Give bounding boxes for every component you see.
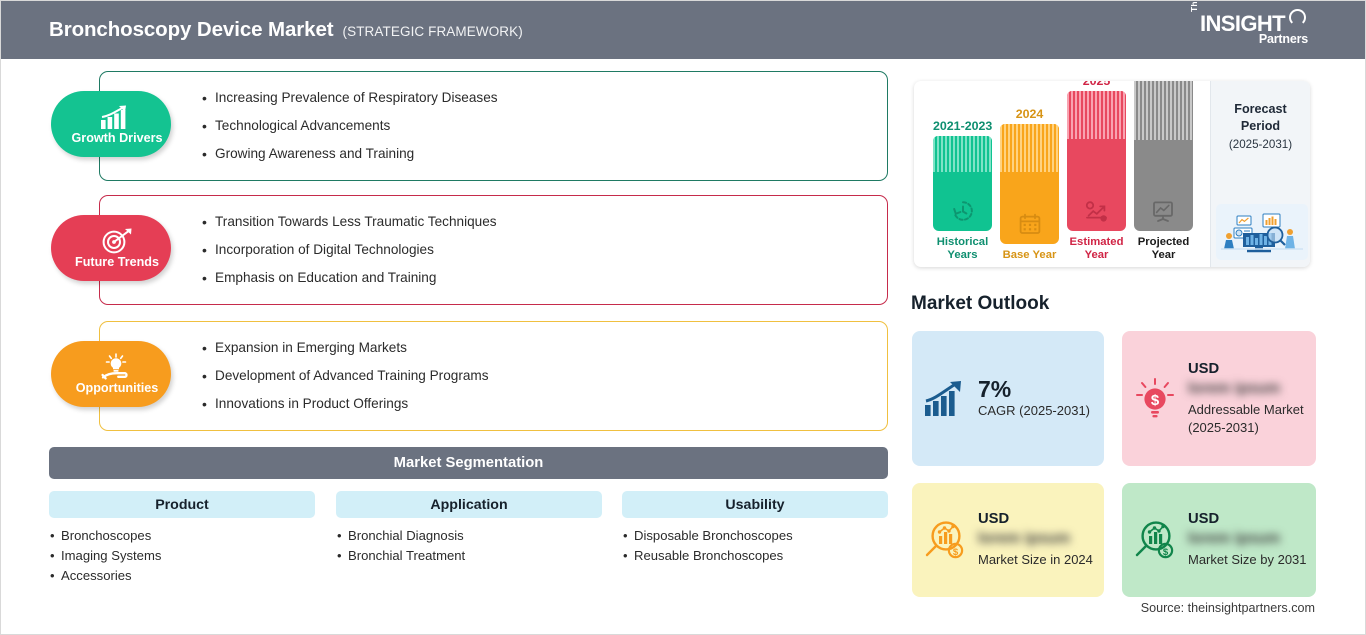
outlook-card-market-size-2031[interactable]: $ USD lorem ipsum Market Size by 2031 <box>1122 483 1316 597</box>
lightbulb-hand-icon <box>88 354 134 380</box>
cagr-text-block: 7% CAGR (2025-2031) <box>978 377 1104 419</box>
list-item: Growing Awareness and Training <box>202 140 498 168</box>
market-outlook-title: Market Outlook <box>911 293 1049 315</box>
projection-screen-icon <box>1134 199 1193 223</box>
blurred-value: lorem ipsum <box>978 530 1096 548</box>
badge-label: Growth Drivers <box>60 131 163 145</box>
svg-text:$: $ <box>1163 547 1169 558</box>
page-subtitle: (STRATEGIC FRAMEWORK) <box>343 24 523 39</box>
usability-list: Disposable Bronchoscopes Reusable Bronch… <box>622 526 888 566</box>
badge-label: Future Trends <box>63 255 159 269</box>
blurred-value: lorem ipsum <box>1188 530 1308 548</box>
currency-label: USD <box>1188 361 1308 377</box>
target-dart-icon <box>89 228 133 254</box>
list-item: Reusable Bronchoscopes <box>622 546 888 566</box>
market-size-2031-text-block: USD lorem ipsum Market Size by 2031 <box>1188 511 1316 568</box>
svg-text:$: $ <box>1151 392 1160 409</box>
list-item: Development of Advanced Training Program… <box>202 362 489 390</box>
logo-magnifier-ring-icon <box>1289 9 1306 26</box>
bar-chart-arrow-icon <box>912 380 978 418</box>
insight-partners-logo[interactable]: The INSIGHT Partners <box>1189 10 1309 52</box>
list-item: Innovations in Product Offerings <box>202 390 489 418</box>
segmentation-column-usability: Usability Disposable Bronchoscopes Reusa… <box>622 491 888 566</box>
growth-drivers-list: Increasing Prevalence of Respiratory Dis… <box>202 84 498 169</box>
list-item: Incorporation of Digital Technologies <box>202 236 497 264</box>
clock-history-icon <box>933 199 992 223</box>
timeline-bar-base-year[interactable]: 2024 B <box>1000 107 1059 263</box>
tab-product[interactable]: Product <box>49 491 315 518</box>
timeline-bars: 2021-2023 Historical Years 2024 <box>914 81 1210 267</box>
calendar-icon <box>1000 212 1059 236</box>
data-analytics-illustration <box>1216 204 1308 260</box>
bar-chart-growth-icon <box>88 104 134 130</box>
list-item: Imaging Systems <box>49 546 315 566</box>
magnifier-chart-dollar-icon: $ <box>1122 519 1188 561</box>
product-list: Bronchoscopes Imaging Systems Accessorie… <box>49 526 315 587</box>
logo-partners-text: Partners <box>1259 32 1308 46</box>
market-size-2031-caption: Market Size by 2031 <box>1188 551 1308 568</box>
list-item: Bronchoscopes <box>49 526 315 546</box>
segmentation-column-application: Application Bronchial Diagnosis Bronchia… <box>336 491 602 566</box>
forecast-period-panel: Forecast Period (2025-2031) <box>1210 81 1310 267</box>
segmentation-column-product: Product Bronchoscopes Imaging Systems Ac… <box>49 491 315 587</box>
header-title-group: Bronchoscopy Device Market (STRATEGIC FR… <box>49 18 523 42</box>
cagr-caption: CAGR (2025-2031) <box>978 402 1096 419</box>
bar-category-label: Historical Years <box>933 236 992 263</box>
application-list: Bronchial Diagnosis Bronchial Treatment <box>336 526 602 566</box>
timeline-bar-historical-years[interactable]: 2021-2023 Historical Years <box>933 119 992 263</box>
list-item: Bronchial Diagnosis <box>336 526 602 546</box>
badge-opportunities[interactable]: Opportunities <box>51 341 171 407</box>
forecast-title-line1: Forecast <box>1211 101 1310 118</box>
outlook-card-cagr[interactable]: 7% CAGR (2025-2031) <box>912 331 1104 466</box>
list-item: Bronchial Treatment <box>336 546 602 566</box>
bar-stripe-overlay <box>1134 81 1193 140</box>
currency-label: USD <box>978 511 1096 527</box>
market-size-2024-text-block: USD lorem ipsum Market Size in 2024 <box>978 511 1104 568</box>
market-size-2024-caption: Market Size in 2024 <box>978 551 1096 568</box>
list-item: Accessories <box>49 566 315 586</box>
list-item: Increasing Prevalence of Respiratory Dis… <box>202 84 498 112</box>
badge-growth-drivers[interactable]: Growth Drivers <box>51 91 171 157</box>
list-item: Expansion in Emerging Markets <box>202 334 489 362</box>
bar-year-label: 2025 <box>1067 81 1126 88</box>
addressable-market-caption: Addressable Market (2025-2031) <box>1188 401 1308 436</box>
forecast-range: (2025-2031) <box>1211 138 1310 151</box>
source-attribution: Source: theinsightpartners.com <box>1141 601 1315 615</box>
bar-stripe-overlay <box>933 136 992 172</box>
lightbulb-dollar-icon: $ <box>1122 376 1188 422</box>
bar-stripe-overlay <box>1067 91 1126 139</box>
currency-label: USD <box>1188 511 1308 527</box>
tab-application[interactable]: Application <box>336 491 602 518</box>
bar-category-label: Base Year <box>1000 249 1059 263</box>
list-item: Transition Towards Less Traumatic Techni… <box>202 208 497 236</box>
svg-text:$: $ <box>953 547 959 558</box>
bar-stripe-overlay <box>1000 124 1059 172</box>
timeline-bar-estimated-year[interactable]: 2025 Estimated Year <box>1067 81 1126 263</box>
list-item: Disposable Bronchoscopes <box>622 526 888 546</box>
outlook-card-market-size-2024[interactable]: $ USD lorem ipsum Market Size in 2024 <box>912 483 1104 597</box>
bar-category-label: Projected Year <box>1134 236 1193 263</box>
addressable-market-text-block: USD lorem ipsum Addressable Market (2025… <box>1188 361 1316 436</box>
tab-usability[interactable]: Usability <box>622 491 888 518</box>
forecast-chart-icon <box>1067 199 1126 223</box>
timeline-bar-projected-year[interactable]: 2031 Projected Year <box>1134 81 1193 263</box>
forecast-title-line2: Period <box>1211 118 1310 135</box>
infographic-page: Bronchoscopy Device Market (STRATEGIC FR… <box>0 0 1366 635</box>
blurred-value: lorem ipsum <box>1188 380 1308 398</box>
market-segmentation-heading: Market Segmentation <box>49 447 888 479</box>
badge-future-trends[interactable]: Future Trends <box>51 215 171 281</box>
bar-year-label: 2024 <box>1000 107 1059 121</box>
cagr-value: 7% <box>978 377 1096 402</box>
page-title: Bronchoscopy Device Market <box>49 18 334 42</box>
opportunities-list: Expansion in Emerging Markets Developmen… <box>202 334 489 419</box>
bar-category-label: Estimated Year <box>1067 236 1126 263</box>
market-timeline-chart: 2021-2023 Historical Years 2024 <box>914 81 1310 267</box>
logo-the-text: The <box>1189 0 1199 12</box>
growth-drivers-section: Growth Drivers Increasing Prevalence of … <box>99 71 888 181</box>
outlook-card-addressable-market[interactable]: $ USD lorem ipsum Addressable Market (20… <box>1122 331 1316 466</box>
list-item: Technological Advancements <box>202 112 498 140</box>
future-trends-list: Transition Towards Less Traumatic Techni… <box>202 208 497 293</box>
bar-year-label: 2021-2023 <box>933 119 992 133</box>
future-trends-section: Future Trends Transition Towards Less Tr… <box>99 195 888 305</box>
list-item: Emphasis on Education and Training <box>202 264 497 292</box>
magnifier-chart-dollar-icon: $ <box>912 519 978 561</box>
badge-label: Opportunities <box>64 381 159 395</box>
opportunities-section: Opportunities Expansion in Emerging Mark… <box>99 321 888 431</box>
page-header: Bronchoscopy Device Market (STRATEGIC FR… <box>1 1 1366 59</box>
